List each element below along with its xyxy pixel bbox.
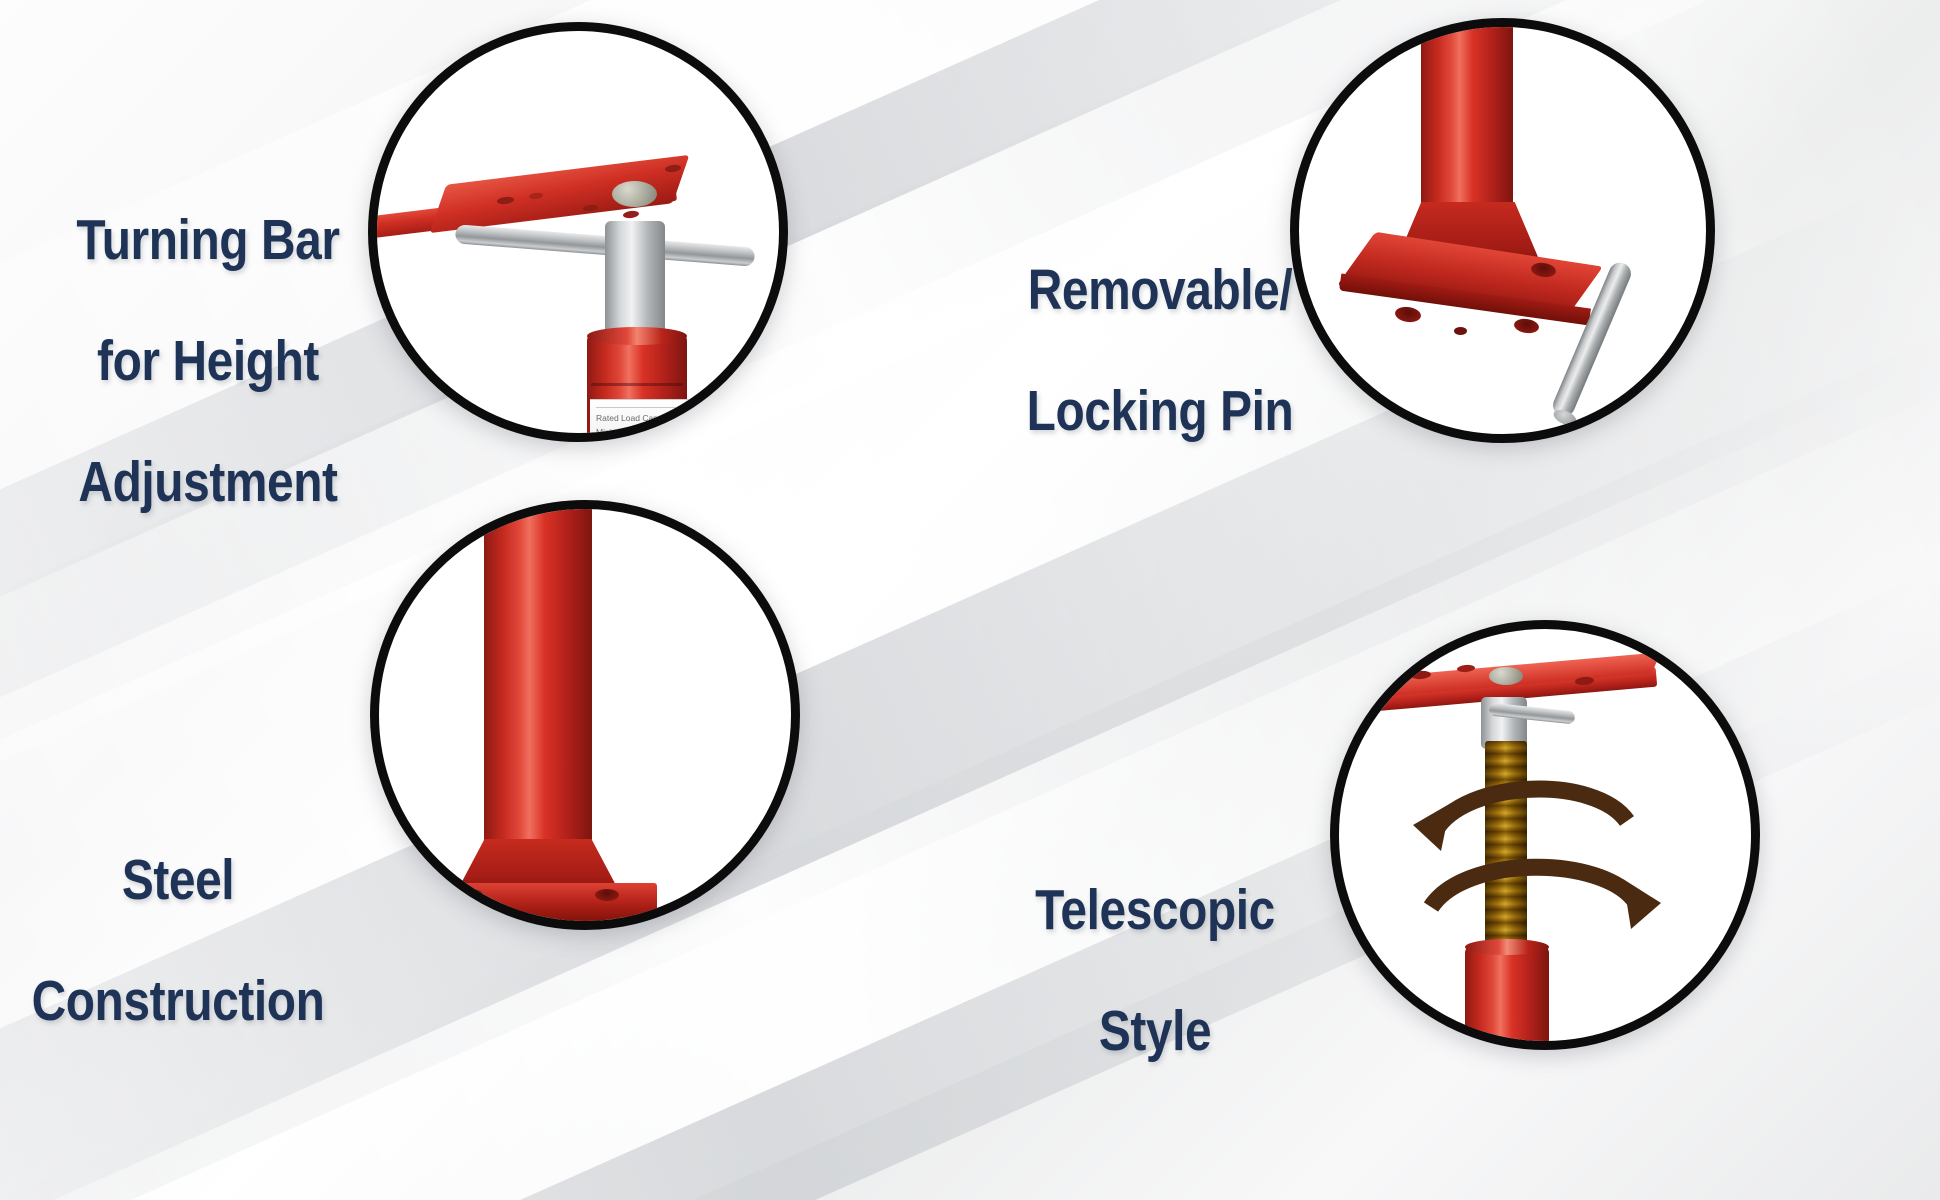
label-line: Construction (18, 971, 337, 1031)
jack-post-base-plate-with-locking-pin-photo (1299, 27, 1706, 434)
label-line: Style (995, 1001, 1314, 1061)
infographic-canvas: Turning Bar for Height Adjustment (0, 0, 1940, 1200)
feature-photo-turning-bar: Rated Load Capacity (lbs): Minimum Exten… (368, 22, 788, 442)
jack-post-red-steel-column-photo (379, 509, 791, 921)
center-bolt-icon (612, 181, 657, 207)
feature-photo-telescopic-style (1330, 620, 1760, 1050)
label-line: Telescopic (995, 880, 1314, 940)
feature-label-locking-pin: Removable/ Locking Pin (1000, 200, 1319, 502)
label-line: Turning Bar (48, 210, 367, 270)
label-line: Locking Pin (1000, 381, 1319, 441)
feature-label-steel-construction: Steel Construction (18, 790, 337, 1092)
label-line: Steel (18, 850, 337, 910)
feature-label-turning-bar: Turning Bar for Height Adjustment (48, 150, 367, 573)
feature-label-telescopic-style: Telescopic Style (995, 820, 1314, 1122)
jack-post-threaded-screw-telescopic-photo (1339, 629, 1751, 1041)
steel-column (484, 500, 592, 849)
spec-title: Rated Load Capacity (lbs): (596, 411, 736, 425)
spec-row: Minimum Extension: 9,738 (596, 425, 736, 439)
spec-row: Maximum Extension: 9,738 (596, 439, 736, 442)
jack-post-top-plate-with-turning-bar-photo: Rated Load Capacity (lbs): Minimum Exten… (377, 31, 779, 433)
feature-photo-steel-construction (370, 500, 800, 930)
label-line: Adjustment (48, 452, 367, 512)
rotation-arrow-icon (1395, 841, 1665, 961)
feature-photo-locking-pin (1290, 18, 1715, 443)
rated-load-capacity-sticker: Rated Load Capacity (lbs): Minimum Exten… (590, 399, 740, 442)
label-line: Removable/ (1000, 260, 1319, 320)
label-line: for Height (48, 331, 367, 391)
